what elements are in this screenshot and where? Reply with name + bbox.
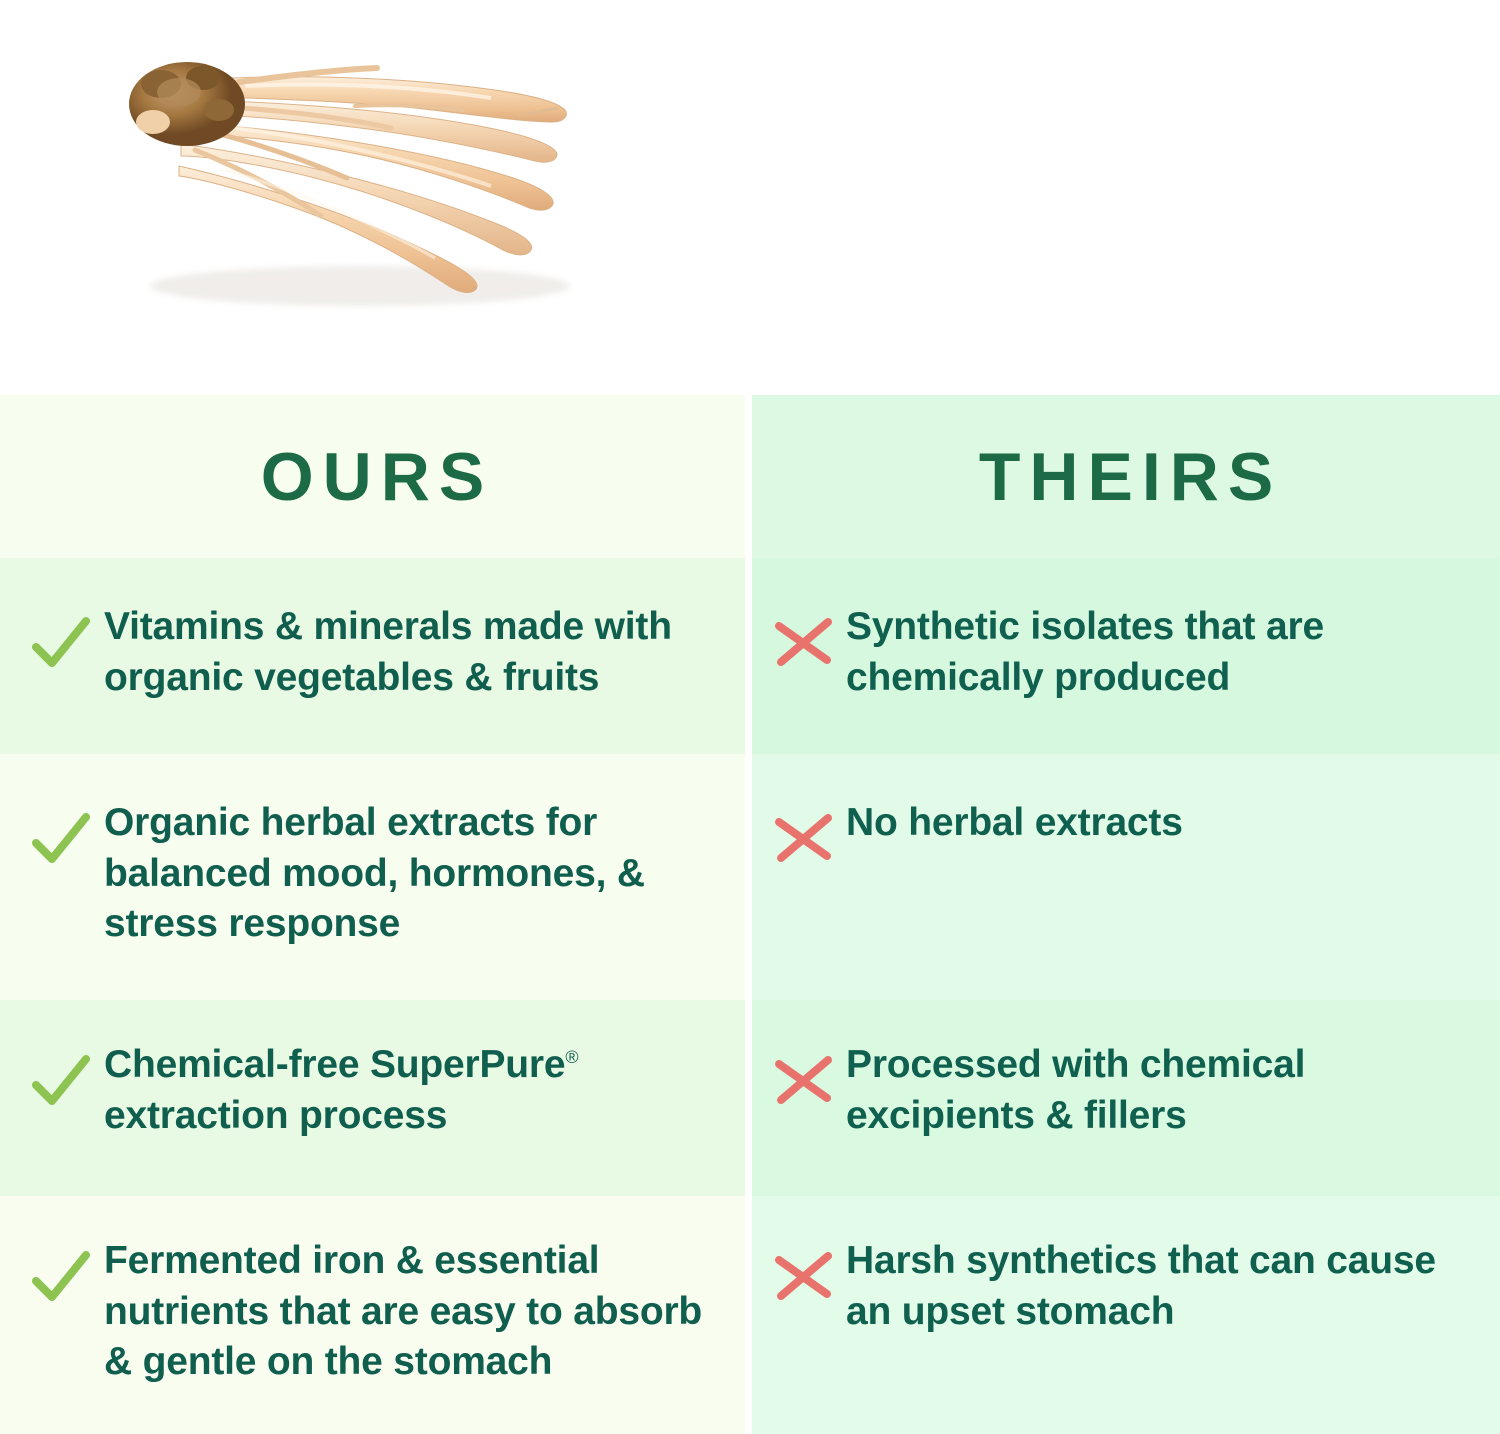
table-row: Vitamins & minerals made with organic ve… <box>0 558 745 754</box>
column-header-theirs: THEIRS <box>752 395 1500 558</box>
check-icon <box>0 798 104 870</box>
table-row: Harsh synthetics that can cause an upset… <box>752 1196 1500 1434</box>
table-row: Organic herbal extracts for balanced moo… <box>0 754 745 1000</box>
column-theirs: THEIRS Synthetic isolates that are chemi… <box>752 395 1500 1434</box>
table-row-text-main: Chemical-free SuperPure <box>104 1043 565 1086</box>
table-row-text: Synthetic isolates that are chemically p… <box>846 602 1500 703</box>
hero-left-cell <box>0 0 750 395</box>
check-icon <box>0 1040 104 1112</box>
hero-right-cell: 100 80 60 40 100ml <box>750 0 1500 395</box>
herbal-roots-illustration <box>95 18 615 328</box>
cross-icon <box>752 1236 846 1308</box>
hero-image-band: 100 80 60 40 100ml <box>0 0 1500 395</box>
column-header-theirs-label: THEIRS <box>970 443 1282 511</box>
table-row-text-suffix: extraction process <box>104 1094 447 1137</box>
table-row-text: Chemical-free SuperPure®extraction proce… <box>104 1040 745 1141</box>
cross-icon <box>752 602 846 674</box>
theirs-row-list: Synthetic isolates that are chemically p… <box>752 558 1500 1434</box>
ours-row-list: Vitamins & minerals made with organic ve… <box>0 558 745 1434</box>
table-row: Fermented iron & essential nutrients tha… <box>0 1196 745 1434</box>
table-row-text: Harsh synthetics that can cause an upset… <box>846 1236 1500 1337</box>
table-row-text: Organic herbal extracts for balanced moo… <box>104 798 745 950</box>
comparison-table: OURS Vitamins & minerals made with organ… <box>0 395 1500 1434</box>
table-row: Chemical-free SuperPure®extraction proce… <box>0 1000 745 1196</box>
table-row-text: No herbal extracts <box>846 798 1500 849</box>
cross-icon <box>752 1040 846 1112</box>
table-row: Processed with chemical excipients & fil… <box>752 1000 1500 1196</box>
column-ours: OURS Vitamins & minerals made with organ… <box>0 395 745 1434</box>
column-header-ours: OURS <box>0 395 745 558</box>
check-icon <box>0 1236 104 1308</box>
table-row: No herbal extracts <box>752 754 1500 1000</box>
table-row-text: Fermented iron & essential nutrients tha… <box>104 1236 745 1388</box>
herbal-roots-photo <box>95 18 615 328</box>
cross-icon <box>752 798 846 870</box>
table-row-text: Vitamins & minerals made with organic ve… <box>104 602 745 703</box>
column-gutter <box>745 395 752 1434</box>
registered-trademark-icon: ® <box>565 1047 578 1067</box>
check-icon <box>0 602 104 674</box>
column-header-ours-label: OURS <box>252 443 493 511</box>
table-row-text: Processed with chemical excipients & fil… <box>846 1040 1500 1141</box>
table-row: Synthetic isolates that are chemically p… <box>752 558 1500 754</box>
